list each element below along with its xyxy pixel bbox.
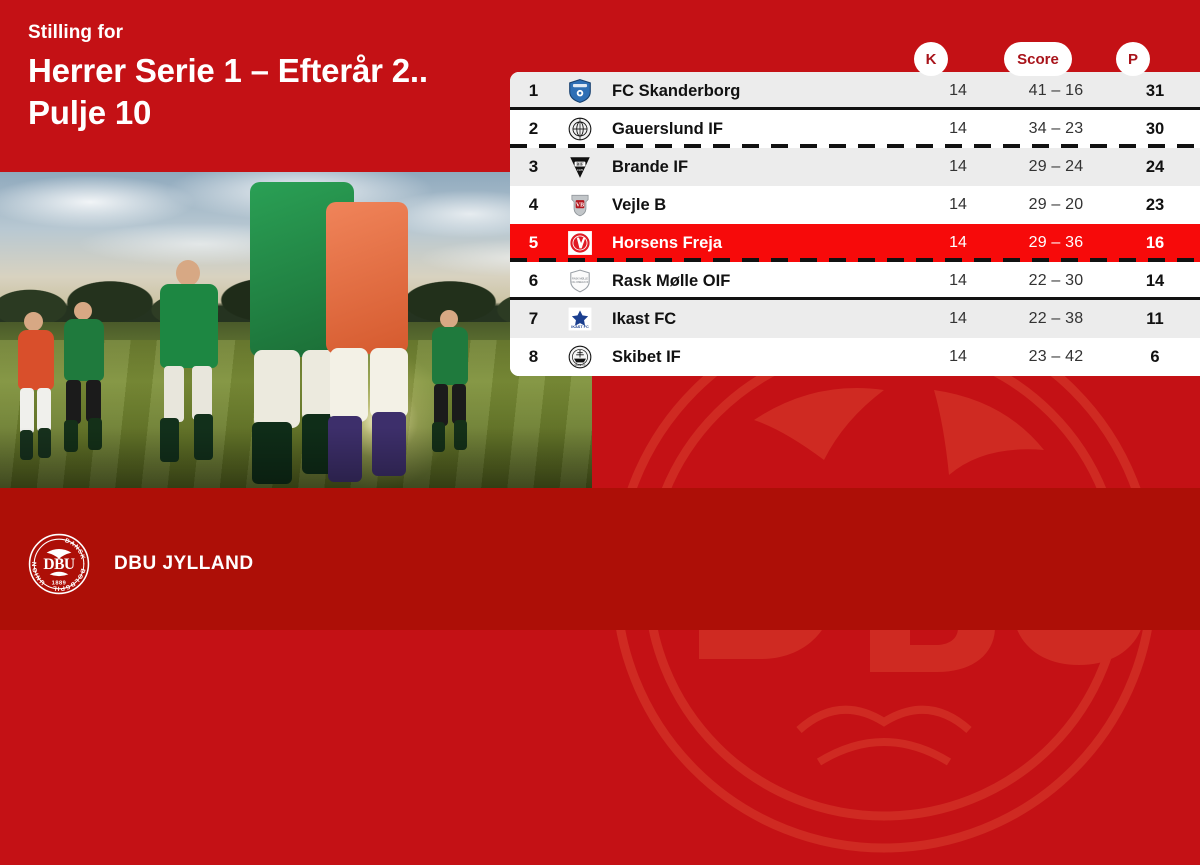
row-position: 6 <box>510 271 557 291</box>
rask-molle-oif-crest: RASK MØLLEOG OMEGN IF <box>557 268 603 294</box>
row-position: 7 <box>510 309 557 329</box>
table-row[interactable]: 3BIF1935Brande IF1429 – 2424 <box>510 148 1200 186</box>
row-position: 8 <box>510 347 557 367</box>
header-eyebrow: Stilling for <box>28 22 123 44</box>
row-position: 4 <box>510 195 557 215</box>
vejle-b-crest: VB <box>557 192 603 218</box>
row-points: 11 <box>1110 310 1200 329</box>
svg-text:VB: VB <box>576 203 584 209</box>
row-team-name: Ikast FC <box>603 310 914 329</box>
row-points: 24 <box>1110 158 1200 177</box>
table-row[interactable]: 2Gauerslund IF1434 – 2330 <box>510 110 1200 148</box>
skibet-if-crest: SKIBET IF <box>557 344 603 370</box>
page-title: Herrer Serie 1 – Efterår 2.. Pulje 10 <box>28 50 498 134</box>
svg-text:1889: 1889 <box>52 581 67 587</box>
svg-text:1935: 1935 <box>577 168 583 172</box>
svg-text:BIF: BIF <box>576 162 584 167</box>
photo-vignette <box>0 427 592 488</box>
standings-table: 1FC Skanderborg1441 – 16312Gauerslund IF… <box>510 72 1200 376</box>
row-position: 3 <box>510 157 557 177</box>
svg-text:OG OMEGN IF: OG OMEGN IF <box>572 281 589 284</box>
row-goal-score: 23 – 42 <box>1002 348 1110 366</box>
column-header-points: P <box>1116 42 1150 76</box>
row-points: 16 <box>1110 234 1200 253</box>
row-matches-played: 14 <box>914 234 1002 252</box>
svg-text:IKAST FC: IKAST FC <box>571 325 589 329</box>
row-matches-played: 14 <box>914 158 1002 176</box>
row-matches-played: 14 <box>914 120 1002 138</box>
row-position: 2 <box>510 119 557 139</box>
row-points: 23 <box>1110 196 1200 215</box>
svg-text:RASK MØLLE: RASK MØLLE <box>572 277 588 280</box>
horsens-freja-crest <box>557 230 603 256</box>
row-goal-score: 22 – 38 <box>1002 310 1110 328</box>
row-matches-played: 14 <box>914 272 1002 290</box>
row-points: 30 <box>1110 120 1200 139</box>
table-row[interactable]: 1FC Skanderborg1441 – 1631 <box>510 72 1200 110</box>
row-team-name: Vejle B <box>603 196 914 215</box>
table-row[interactable]: 4VBVejle B1429 – 2023 <box>510 186 1200 224</box>
ikast-fc-crest: IKAST FC <box>557 306 603 332</box>
svg-text:DBU: DBU <box>43 556 74 573</box>
row-team-name: Brande IF <box>603 158 914 177</box>
fc-skanderborg-crest <box>557 78 603 104</box>
row-matches-played: 14 <box>914 196 1002 214</box>
row-team-name: Gauerslund IF <box>603 120 914 139</box>
svg-text:SKIBET IF: SKIBET IF <box>574 364 586 367</box>
row-team-name: Skibet IF <box>603 348 914 367</box>
column-header-score: Score <box>1004 42 1072 76</box>
row-team-name: Rask Mølle OIF <box>603 272 914 291</box>
row-team-name: Horsens Freja <box>603 234 914 253</box>
footer-organisation-label: DBU JYLLAND <box>114 553 254 575</box>
column-header-played: K <box>914 42 948 76</box>
row-matches-played: 14 <box>914 348 1002 366</box>
dbu-logo: DANSK · BOLDSPIL · UNION DBU 1889 <box>28 533 90 595</box>
row-goal-score: 29 – 20 <box>1002 196 1110 214</box>
gauerslund-if-crest <box>557 116 603 142</box>
row-goal-score: 41 – 16 <box>1002 82 1110 100</box>
row-matches-played: 14 <box>914 310 1002 328</box>
row-points: 6 <box>1110 348 1200 367</box>
row-goal-score: 22 – 30 <box>1002 272 1110 290</box>
row-matches-played: 14 <box>914 82 1002 100</box>
row-goal-score: 29 – 36 <box>1002 234 1110 252</box>
row-points: 14 <box>1110 272 1200 291</box>
football-match-photo <box>0 172 592 488</box>
table-row[interactable]: 6RASK MØLLEOG OMEGN IFRask Mølle OIF1422… <box>510 262 1200 300</box>
row-points: 31 <box>1110 82 1200 101</box>
table-row[interactable]: 7IKAST FCIkast FC1422 – 3811 <box>510 300 1200 338</box>
row-goal-score: 29 – 24 <box>1002 158 1110 176</box>
row-position: 5 <box>510 233 557 253</box>
footer: DANSK · BOLDSPIL · UNION DBU 1889 DBU JY… <box>28 533 254 595</box>
table-row[interactable]: 5Horsens Freja1429 – 3616 <box>510 224 1200 262</box>
row-team-name: FC Skanderborg <box>603 82 914 101</box>
row-goal-score: 34 – 23 <box>1002 120 1110 138</box>
row-position: 1 <box>510 81 557 101</box>
brande-if-crest: BIF1935 <box>557 154 603 180</box>
table-row[interactable]: 8SKIBET IFSkibet IF1423 – 426 <box>510 338 1200 376</box>
